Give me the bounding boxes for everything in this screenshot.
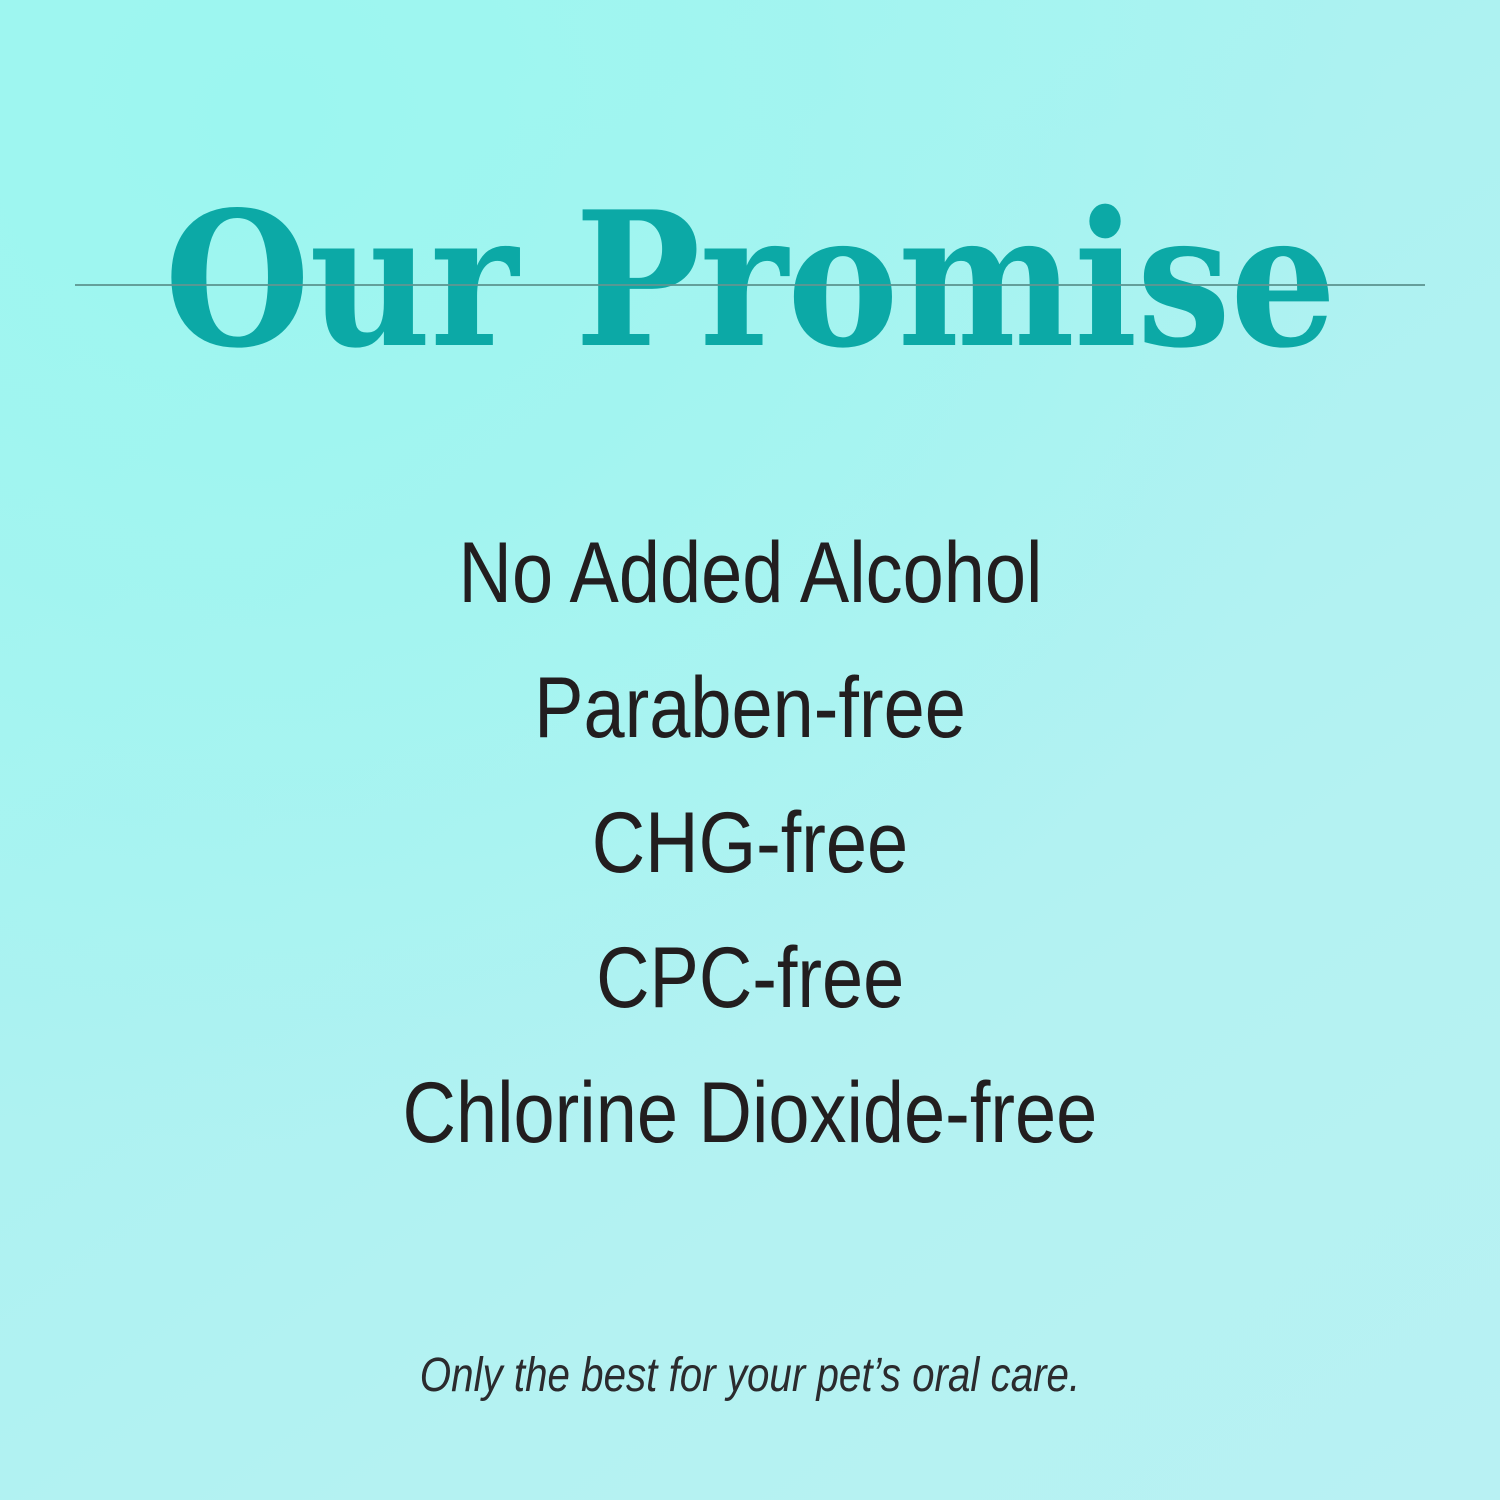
list-item: Chlorine Dioxide-free [0,1045,1500,1180]
page-title: Our Promise [75,187,1425,373]
list-item: No Added Alcohol [0,505,1500,640]
promise-list: No Added Alcohol Paraben-free CHG-free C… [0,505,1500,1180]
promise-item-label: Chlorine Dioxide-free [403,1070,1098,1156]
promise-item-label: No Added Alcohol [458,530,1042,616]
list-item: Paraben-free [0,640,1500,775]
promise-item-label: Paraben-free [534,665,966,751]
promise-item-label: CPC-free [596,935,904,1021]
promise-item-label: CHG-free [592,800,908,886]
title-divider [75,284,1425,286]
footer-tagline: Only the best for your pet’s oral care. [120,1348,1380,1403]
our-promise-card: Our Promise No Added Alcohol Paraben-fre… [0,0,1500,1500]
list-item: CPC-free [0,910,1500,1045]
list-item: CHG-free [0,775,1500,910]
